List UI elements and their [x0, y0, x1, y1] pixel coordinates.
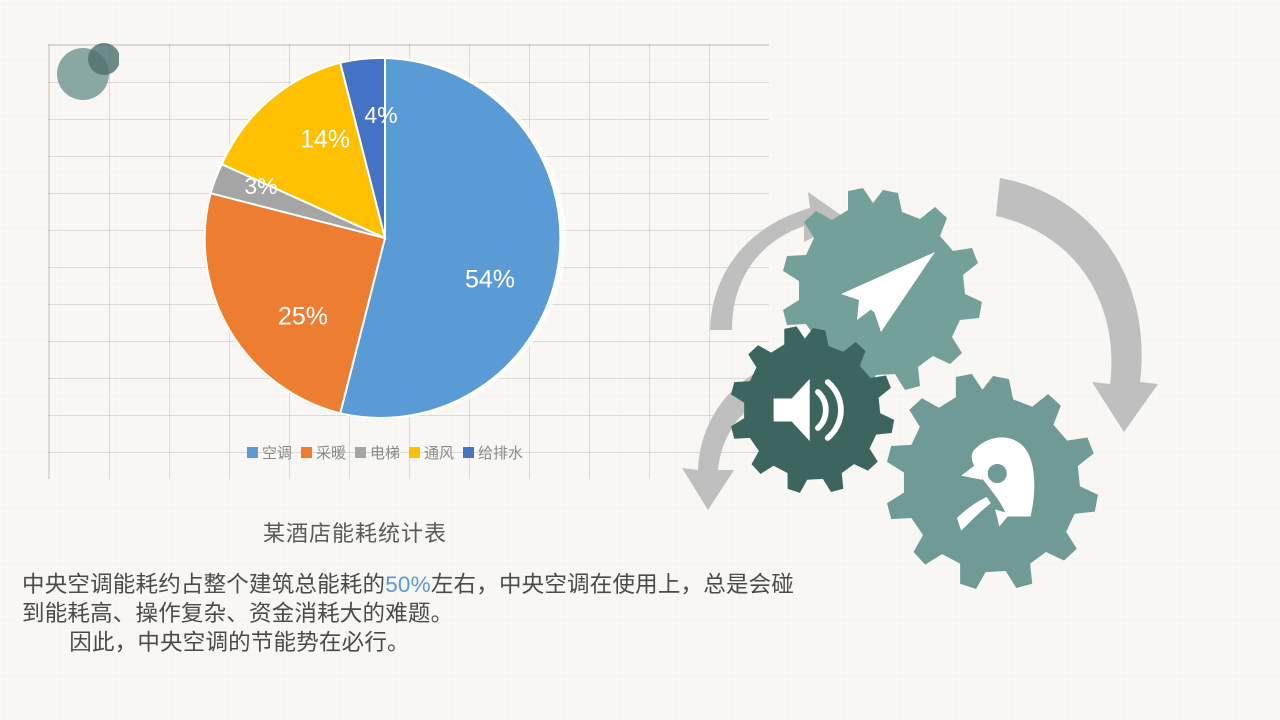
legend-swatch-icon [355, 447, 366, 458]
legend-item-jipaishui[interactable]: 给排水 [463, 442, 523, 463]
legend-label: 采暖 [316, 442, 346, 463]
pie-label-kongtiao: 54% [465, 266, 515, 294]
pie-chart[interactable]: 54% 25% 3% 14% 4% [185, 38, 585, 438]
legend-swatch-icon [247, 447, 258, 458]
circle-logo [57, 41, 119, 103]
gear-bottom[interactable] [887, 374, 1098, 589]
pie-label-dianti: 3% [244, 173, 277, 199]
pie-label-cainuan: 25% [278, 303, 328, 331]
legend-label: 给排水 [478, 442, 523, 463]
gears-illustration [680, 170, 1280, 690]
legend-item-cainuan[interactable]: 采暖 [301, 442, 346, 463]
highlight-50-percent: 50% [385, 572, 431, 597]
legend-swatch-icon [409, 447, 420, 458]
logo-small-circle [88, 43, 119, 75]
legend-item-kongtiao[interactable]: 空调 [247, 442, 292, 463]
slide-canvas: 54% 25% 3% 14% 4% 空调 采暖 电梯 通风 给排水 某酒店 [0, 0, 1280, 720]
legend-label: 电梯 [370, 442, 400, 463]
pie-label-tongfeng: 14% [300, 126, 350, 154]
legend-swatch-icon [301, 447, 312, 458]
chart-caption: 某酒店能耗统计表 [130, 516, 580, 548]
legend-item-dianti[interactable]: 电梯 [355, 442, 400, 463]
legend-label: 空调 [262, 442, 292, 463]
legend-label: 通风 [424, 442, 454, 463]
arrow-right-arc-icon [996, 178, 1158, 432]
body-line-1a: 中央空调能耗约占整个建筑总能耗的 [22, 572, 385, 597]
body-line-3-text: 因此，中央空调的节能势在必行。 [69, 630, 410, 655]
legend-item-tongfeng[interactable]: 通风 [409, 442, 454, 463]
legend-swatch-icon [463, 447, 474, 458]
pie-label-jipaishui: 4% [364, 102, 397, 128]
chart-legend: 空调 采暖 电梯 通风 给排水 [185, 440, 585, 464]
